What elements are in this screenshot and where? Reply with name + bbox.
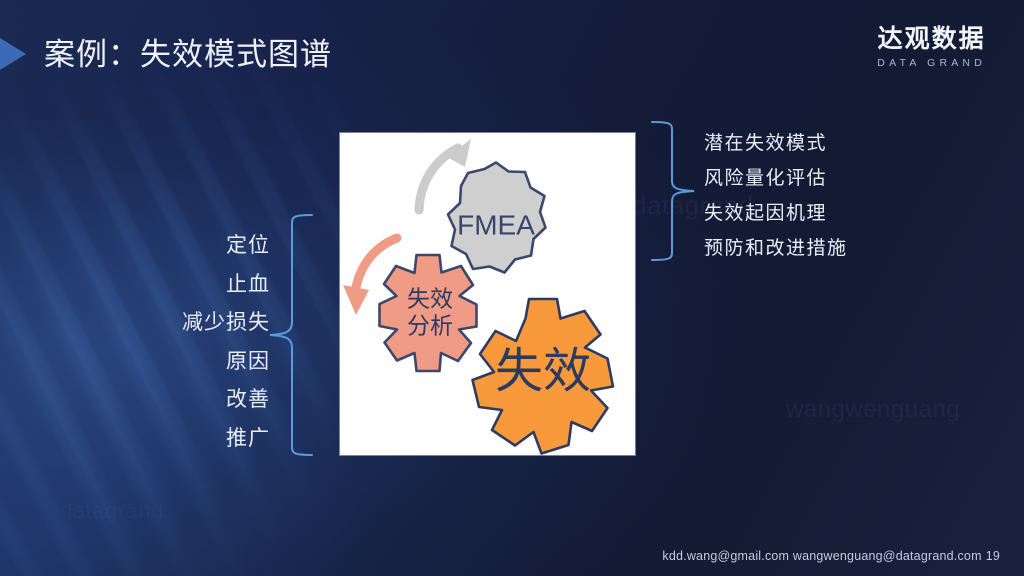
brand-logo: 达观数据 DATA GRAND bbox=[877, 26, 986, 69]
list-item: 改善 bbox=[150, 380, 270, 419]
failure-analysis-gear-label-line2: 分析 bbox=[407, 313, 453, 338]
list-item: 风险量化评估 bbox=[704, 161, 848, 196]
logo-chinese-name: 达观数据 bbox=[877, 26, 986, 52]
watermark-datagrand-two: datagrand bbox=[60, 498, 164, 524]
list-item: 减少损失 bbox=[150, 303, 270, 342]
gear-diagram-panel: FMEA 失效 分析 失效 bbox=[340, 133, 635, 455]
list-item: 预防和改进措施 bbox=[704, 231, 848, 266]
page-title: 案例：失效模式图谱 bbox=[44, 29, 332, 74]
failure-analysis-gear: 失效 分析 bbox=[380, 255, 477, 371]
list-item: 失效起因机理 bbox=[704, 196, 848, 231]
right-brace bbox=[650, 118, 696, 264]
left-brace bbox=[268, 210, 314, 460]
slide-canvas: 案例：失效模式图谱 达观数据 DATA GRAND datagrand wang… bbox=[0, 0, 1024, 576]
list-item: 止血 bbox=[150, 265, 270, 304]
right-output-list: 潜在失效模式 风险量化评估 失效起因机理 预防和改进措施 bbox=[704, 126, 848, 266]
watermark-wangwenguang: wangwenguang bbox=[786, 396, 960, 424]
failure-analysis-gear-label-line1: 失效 bbox=[407, 286, 453, 311]
list-item: 推广 bbox=[150, 419, 270, 458]
gear-diagram-svg: FMEA 失效 分析 失效 bbox=[340, 133, 635, 455]
left-stage-list: 定位 止血 减少损失 原因 改善 推广 bbox=[150, 226, 270, 457]
slide-header: 案例：失效模式图谱 达观数据 DATA GRAND bbox=[0, 0, 1024, 96]
failure-gear-label: 失效 bbox=[495, 345, 591, 398]
list-item: 定位 bbox=[150, 226, 270, 265]
list-item: 潜在失效模式 bbox=[704, 126, 848, 161]
slide-footer: kdd.wang@gmail.com wangwenguang@datagran… bbox=[662, 549, 1000, 563]
logo-english-name: DATA GRAND bbox=[877, 57, 986, 69]
title-triangle-icon bbox=[0, 38, 26, 70]
footer-emails: kdd.wang@gmail.com wangwenguang@datagran… bbox=[662, 549, 981, 563]
page-number: 19 bbox=[986, 549, 1000, 563]
fmea-gear-label: FMEA bbox=[457, 209, 535, 240]
list-item: 原因 bbox=[150, 342, 270, 381]
